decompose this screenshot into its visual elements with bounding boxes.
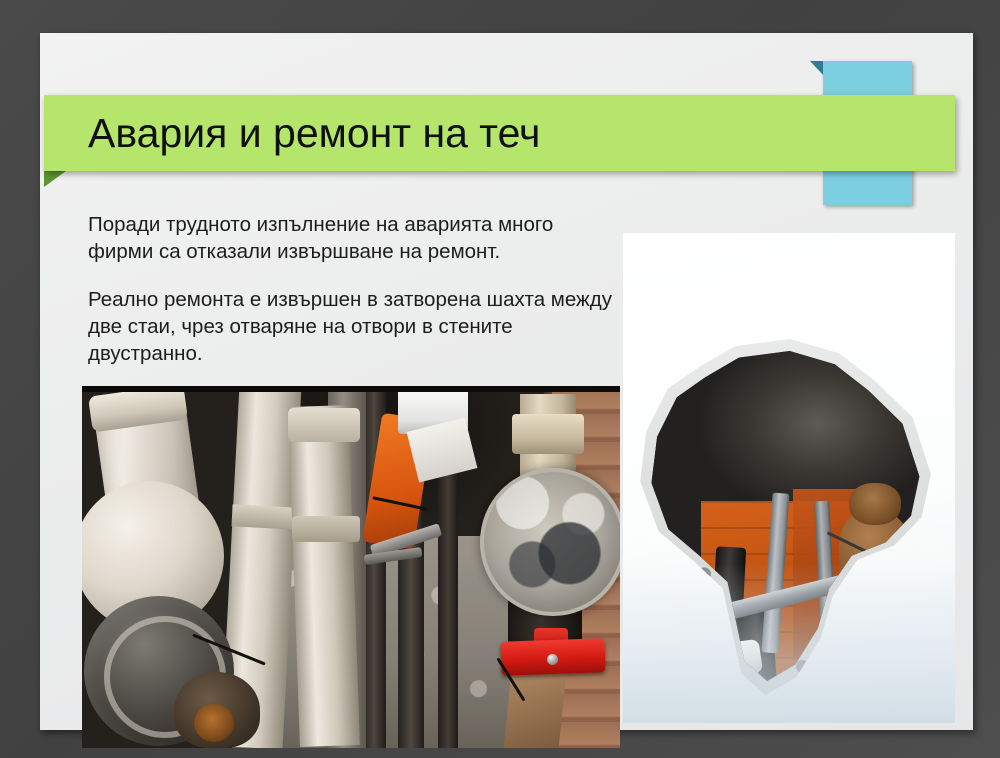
presentation-slide: Авария и ремонт на теч Поради трудното и… [40,33,973,730]
slide-title: Авария и ремонт на теч [88,101,928,165]
scaled-valve-flange [480,468,620,616]
blue-ribbon-fold-icon [810,61,824,76]
photo-top-shadow-bar [82,386,620,392]
pipe-joint-c-top [288,408,360,442]
beige-pipe-nut [512,414,584,454]
photo-hole-in-wall [623,233,955,723]
body-paragraph-1: Поради трудното изпълнение на аварията м… [88,211,613,265]
body-paragraph-2: Реално ремонта е извършен в затворена ша… [88,286,613,367]
green-banner-fold-icon [44,171,66,187]
pipe-band-b [231,504,296,529]
scaled-white-pipe-c [288,405,360,747]
photo-pipes-in-shaft [82,386,620,748]
handle-screw [547,654,558,665]
rust-spot [194,704,234,742]
wall-sheen [623,563,955,723]
rusty-pipe-fitting-2 [849,483,901,525]
pipe-joint-c-mid [292,516,360,542]
slide-body-text: Поради трудното изпълнение на аварията м… [88,211,613,388]
slide-viewer: Авария и ремонт на теч Поради трудното и… [0,0,1000,758]
